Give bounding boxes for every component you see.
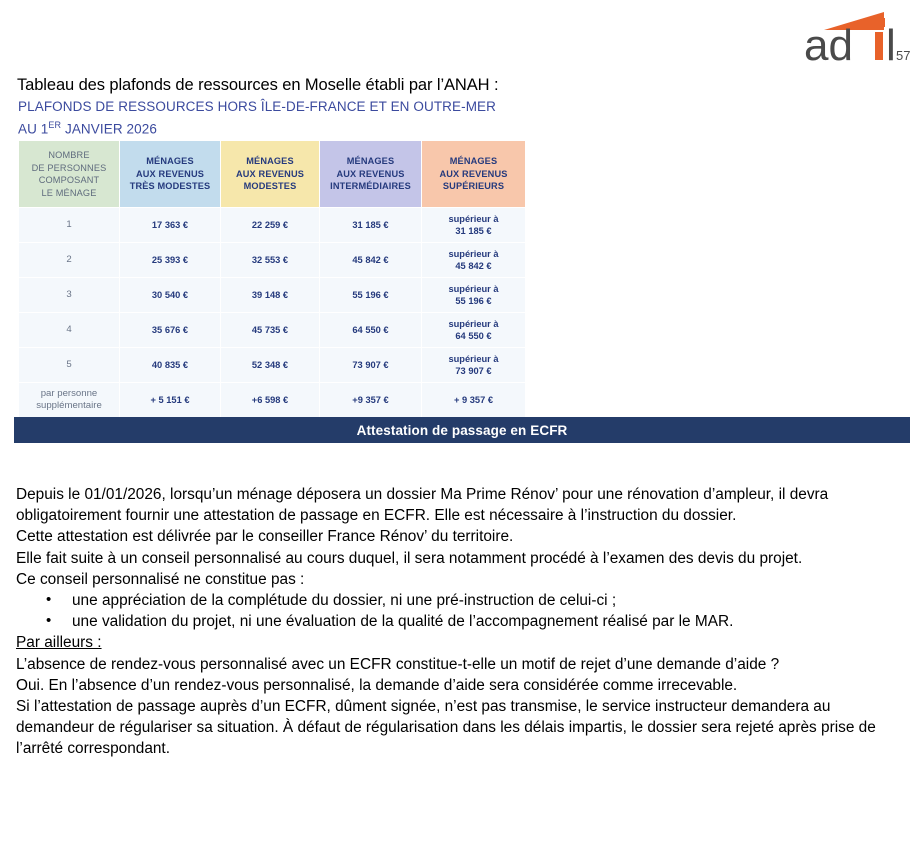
cell-very-modest: 17 363 € (120, 208, 220, 242)
cell-household-size: 4 (19, 313, 119, 347)
table-header-row: NOMBREDE PERSONNESCOMPOSANTLE MÉNAGE MÉN… (19, 141, 525, 207)
paragraph-4: Ce conseil personnalisé ne constitue pas… (16, 569, 911, 590)
table-row: 435 676 €45 735 €64 550 €supérieur à64 5… (19, 313, 525, 347)
cell-household-size: 3 (19, 278, 119, 312)
cell-modest: 32 553 € (221, 243, 319, 277)
paragraph-7: Si l’attestation de passage auprès d’un … (16, 696, 911, 760)
paragraph-6: Oui. En l’absence d’un rendez-vous perso… (16, 675, 911, 696)
svg-text:l: l (886, 21, 896, 68)
table-subtitle: PLAFONDS DE RESSOURCES HORS ÎLE-DE-FRANC… (18, 97, 496, 139)
table-row: 540 835 €52 348 €73 907 €supérieur à73 9… (19, 348, 525, 382)
cell-very-modest: 35 676 € (120, 313, 220, 347)
svg-text:ad: ad (804, 21, 853, 68)
column-header-superior: MÉNAGESAUX REVENUSSUPÉRIEURS (422, 141, 525, 207)
cell-superior: supérieur à45 842 € (422, 243, 525, 277)
page-title: Tableau des plafonds de ressources en Mo… (17, 76, 498, 95)
cell-superior: + 9 357 € (422, 383, 525, 417)
paragraph-2: Cette attestation est délivrée par le co… (16, 526, 911, 547)
table-row: 117 363 €22 259 €31 185 €supérieur à31 1… (19, 208, 525, 242)
body-content: Depuis le 01/01/2026, lorsqu’un ménage d… (16, 484, 911, 760)
column-header-very-modest: MÉNAGESAUX REVENUSTRÈS MODESTES (120, 141, 220, 207)
paragraph-1: Depuis le 01/01/2026, lorsqu’un ménage d… (16, 484, 911, 526)
section-banner-title: Attestation de passage en ECFR (357, 423, 568, 438)
cell-very-modest: 40 835 € (120, 348, 220, 382)
column-header-modest: MÉNAGESAUX REVENUSMODESTES (221, 141, 319, 207)
list-item: une validation du projet, ni une évaluat… (16, 611, 911, 632)
cell-household-size: 2 (19, 243, 119, 277)
cell-intermediate: 64 550 € (320, 313, 421, 347)
cell-superior: supérieur à31 185 € (422, 208, 525, 242)
table-row: 330 540 €39 148 €55 196 €supérieur à55 1… (19, 278, 525, 312)
resource-ceilings-table: NOMBREDE PERSONNESCOMPOSANTLE MÉNAGE MÉN… (18, 140, 526, 418)
cell-modest: 22 259 € (221, 208, 319, 242)
cell-superior: supérieur à73 907 € (422, 348, 525, 382)
cell-superior: supérieur à55 196 € (422, 278, 525, 312)
conseil-exclusions-list: une appréciation de la complétude du dos… (16, 590, 911, 632)
cell-superior: supérieur à64 550 € (422, 313, 525, 347)
cell-household-size: 1 (19, 208, 119, 242)
cell-very-modest: 30 540 € (120, 278, 220, 312)
cell-intermediate: 73 907 € (320, 348, 421, 382)
cell-modest: 39 148 € (221, 278, 319, 312)
cell-very-modest: 25 393 € (120, 243, 220, 277)
svg-text:57: 57 (896, 48, 910, 63)
cell-intermediate: 55 196 € (320, 278, 421, 312)
column-header-household-size: NOMBREDE PERSONNESCOMPOSANTLE MÉNAGE (19, 141, 119, 207)
paragraph-5: L’absence de rendez-vous personnalisé av… (16, 654, 911, 675)
subtitle-line-1: PLAFONDS DE RESSOURCES HORS ÎLE-DE-FRANC… (18, 97, 496, 116)
cell-intermediate: 31 185 € (320, 208, 421, 242)
subtitle-date-post: JANVIER 2026 (61, 122, 157, 137)
subtitle-line-2: AU 1ER JANVIER 2026 (18, 116, 496, 139)
cell-household-size: 5 (19, 348, 119, 382)
cell-modest: +6 598 € (221, 383, 319, 417)
cell-intermediate: 45 842 € (320, 243, 421, 277)
table-row: par personnesupplémentaire+ 5 151 €+6 59… (19, 383, 525, 417)
cell-modest: 45 735 € (221, 313, 319, 347)
column-header-intermediate: MÉNAGESAUX REVENUSINTERMÉDIAIRES (320, 141, 421, 207)
cell-household-size: par personnesupplémentaire (19, 383, 119, 417)
par-ailleurs-heading: Par ailleurs : (16, 632, 911, 653)
subtitle-date-pre: AU 1 (18, 122, 48, 137)
list-item: une appréciation de la complétude du dos… (16, 590, 911, 611)
paragraph-3: Elle fait suite à un conseil personnalis… (16, 548, 911, 569)
cell-very-modest: + 5 151 € (120, 383, 220, 417)
subtitle-date-sup: ER (48, 120, 61, 130)
section-banner: Attestation de passage en ECFR (14, 417, 910, 443)
table-row: 225 393 €32 553 €45 842 €supérieur à45 8… (19, 243, 525, 277)
adil-logo: ad l 57 (800, 6, 910, 68)
par-ailleurs-label: Par ailleurs : (16, 634, 102, 651)
cell-modest: 52 348 € (221, 348, 319, 382)
cell-intermediate: +9 357 € (320, 383, 421, 417)
